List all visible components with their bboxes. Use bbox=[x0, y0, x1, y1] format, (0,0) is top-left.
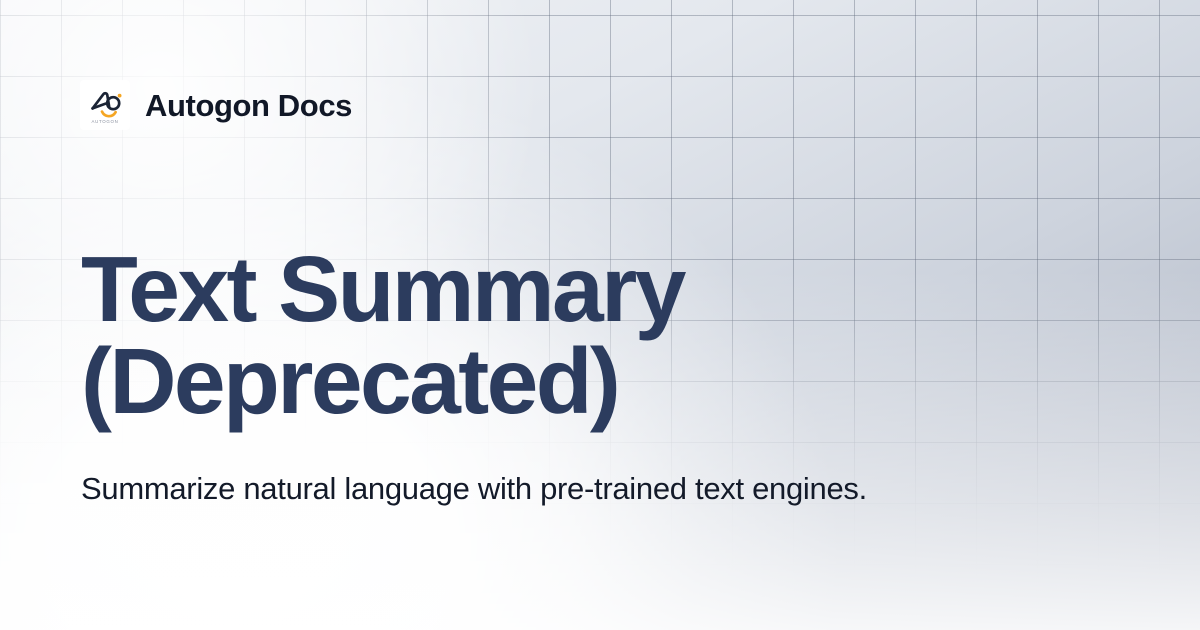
og-card: AUTOGON Autogon Docs Text Summary (Depre… bbox=[0, 0, 1200, 630]
autogon-wordmark: AUTOGON bbox=[91, 119, 118, 124]
content-layer: AUTOGON Autogon Docs Text Summary (Depre… bbox=[0, 0, 1200, 630]
smile-icon bbox=[102, 112, 116, 117]
brand-name: Autogon Docs bbox=[145, 90, 352, 121]
page-subtitle: Summarize natural language with pre-trai… bbox=[81, 468, 881, 510]
autogon-logo-badge: AUTOGON bbox=[81, 81, 129, 129]
page-title: Text Summary (Deprecated) bbox=[81, 243, 841, 427]
autogon-logo-icon: AUTOGON bbox=[83, 83, 127, 127]
accent-dot-icon bbox=[118, 94, 122, 98]
brand-lockup[interactable]: AUTOGON Autogon Docs bbox=[81, 81, 352, 129]
